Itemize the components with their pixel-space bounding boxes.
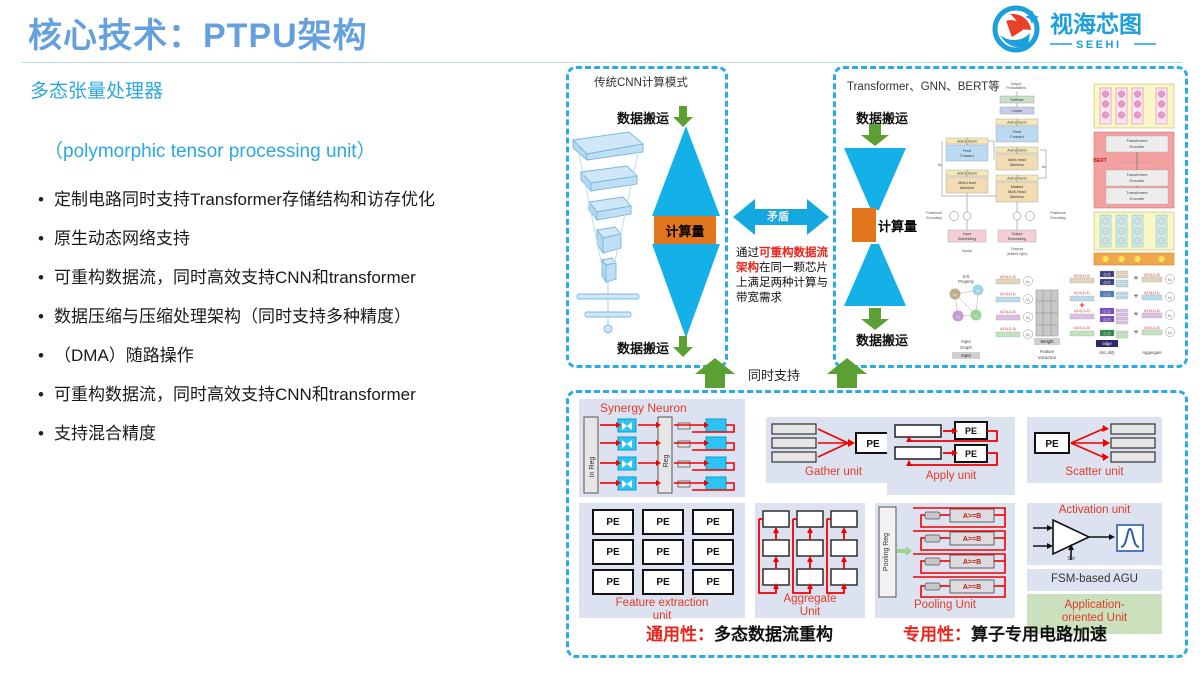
svg-text:Forward: Forward [960, 154, 973, 158]
svg-text:Probabilities: Probabilities [1006, 86, 1026, 90]
svg-text:Encoding: Encoding [927, 216, 942, 220]
cnn-panel-caption: 传统CNN计算模式 [594, 74, 688, 90]
page-title: 核心技术：PTPU架构 [28, 8, 368, 57]
svg-text:V₁: V₁ [1168, 295, 1173, 300]
svg-text:A>=B: A>=B [963, 584, 981, 591]
bullet-marker-icon: • [34, 420, 54, 448]
svg-text:Encoding: Encoding [1051, 216, 1066, 220]
footer-special-value: 算子专用电路加速 [971, 625, 1107, 644]
svg-text:A>=B: A>=B [963, 559, 981, 566]
list-item: • （DMA）随路操作 [34, 342, 544, 370]
gather-unit-diagram: PE [770, 421, 898, 467]
footer-general: 通用性：多态数据流重构 [646, 620, 833, 645]
data-move-down-arrow-icon [672, 336, 694, 358]
list-item-text: 可重构数据流，同时高效支持CNN和transformer [54, 381, 544, 409]
pe-cell: PE [642, 509, 684, 535]
svg-text:A>=B: A>=B [963, 513, 981, 520]
in-reg-label: In Reg [589, 457, 596, 478]
pe-cell: PE [592, 569, 634, 595]
slide-root: 核心技术：PTPU架构 视海芯图 SEEHI 多态张量处理器 （polymorp… [0, 0, 1200, 681]
footer-special-key: 专用性： [903, 625, 971, 644]
fsm-agu-label: FSM-based AGU [1027, 573, 1162, 586]
cnn-data-move-bottom-label: 数据搬运 [617, 338, 669, 357]
svg-text:+: + [1079, 300, 1084, 310]
svg-text:ℓ(0,0)-(1,0): ℓ(0,0)-(1,0) [1074, 274, 1089, 278]
bullet-marker-icon: • [34, 381, 54, 409]
svg-text:PE: PE [1045, 439, 1059, 450]
synergy-neuron-diagram: In Reg Reg [582, 415, 742, 495]
subheading-en: （polymorphic tensor processing unit） [44, 136, 376, 163]
aggregate-unit-label: Aggregate Unit [755, 593, 865, 619]
svg-text:Nx: Nx [938, 163, 943, 167]
svg-text:Masked: Masked [1011, 185, 1024, 189]
conflict-note-prefix: 通过 [736, 247, 759, 259]
svg-text:Positional: Positional [926, 211, 942, 215]
sel-label: Sel [1067, 556, 1074, 562]
list-item-text: 定制电路同时支持Transformer存储结构和访存优化 [54, 186, 544, 214]
pe-cell: PE [642, 539, 684, 565]
svg-text:V₀: V₀ [1168, 277, 1173, 282]
pe-cell: PE [592, 509, 634, 535]
synergy-neuron-label: Synergy Neuron [600, 401, 687, 415]
pe-cell: PE [692, 509, 734, 535]
svg-text:ℓ(1,0)-(1,1): ℓ(1,0)-(1,1) [1144, 291, 1159, 295]
svg-text:Transformer: Transformer [1126, 190, 1148, 195]
list-item-text: 原生动态网络支持 [54, 225, 544, 253]
svg-text:ℓ(2,0)-(1,2): ℓ(2,0)-(1,2) [1144, 309, 1159, 313]
svg-text:Weight: Weight [1041, 339, 1055, 344]
svg-text:V₃: V₃ [1026, 332, 1031, 337]
bullet-marker-icon: • [34, 342, 54, 370]
transformer-data-move-bottom-label: 数据搬运 [856, 330, 908, 349]
data-move-down-arrow-icon [860, 124, 890, 146]
cnn-layer-stack-icon [569, 126, 649, 338]
bullet-marker-icon: • [34, 303, 54, 331]
svg-text:(1,3): (1,3) [1104, 332, 1111, 336]
svg-text:ℓ(0,0)-(1,0): ℓ(0,0)-(1,0) [1000, 275, 1015, 279]
svg-text:V₀: V₀ [953, 292, 958, 297]
list-item: • 支持混合精度 [34, 420, 544, 448]
pooling-reg-label: Pooling Reg [883, 533, 890, 571]
svg-text:Softmax: Softmax [1010, 98, 1023, 102]
transformer-architecture-thumbnail: OutputProbabilities Softmax Linear Add &… [918, 78, 1098, 268]
svg-text:Linear: Linear [1012, 109, 1023, 113]
svg-text:(3,2): (3,2) [1104, 318, 1111, 322]
cnn-data-move-top-label: 数据搬运 [617, 108, 669, 127]
list-item-text: 可重构数据流，同时高效支持CNN和transformer [54, 264, 544, 292]
subheading-cn: 多态张量处理器 [30, 76, 163, 103]
svg-text:✳: ✳ [1133, 275, 1138, 282]
list-item: • 定制电路同时支持Transformer存储结构和访存优化 [34, 186, 544, 214]
svg-text:(1,2): (1,2) [1104, 310, 1111, 314]
activation-unit-label: Activation unit [1027, 504, 1162, 516]
svg-text:V₁: V₁ [976, 288, 981, 293]
svg-text:✳: ✳ [1133, 329, 1138, 336]
svg-text:V₁: V₁ [1026, 297, 1031, 302]
pooling-unit-label: Pooling Unit [875, 599, 1015, 612]
pe-cell: PE [642, 569, 684, 595]
svg-text:Encoder: Encoder [1130, 144, 1146, 149]
conflict-label: 矛盾 [767, 208, 789, 224]
svg-text:(2,0): (2,0) [1104, 273, 1111, 277]
list-item-text: （DMA）随路操作 [54, 342, 544, 370]
svg-text:Graph: Graph [960, 345, 972, 350]
svg-text:V₃: V₃ [1168, 330, 1173, 335]
svg-text:V₂: V₂ [1026, 315, 1031, 320]
svg-text:Attention: Attention [1010, 195, 1024, 199]
svg-text:Property: Property [958, 279, 975, 284]
svg-text:V₀: V₀ [1026, 279, 1031, 284]
apply-unit-label: Apply unit [887, 470, 1015, 483]
logo-cn-name: 视海芯图 [1050, 11, 1142, 37]
pooling-unit-diagram: Pooling Reg A>=BA>=B A>=BA>=B [877, 505, 1013, 601]
svg-text:Feed: Feed [963, 149, 971, 153]
aggregate-unit-diagram [757, 505, 863, 597]
svg-text:Multi-Head: Multi-Head [1008, 190, 1025, 194]
svg-text:PE: PE [965, 426, 977, 436]
svg-text:(3,0): (3,0) [1104, 281, 1111, 285]
title-divider [22, 62, 1182, 63]
svg-text:ℓ(1,0)-(1,1): ℓ(1,0)-(1,1) [1000, 292, 1015, 296]
svg-text:✳: ✳ [1133, 293, 1138, 300]
svg-text:ℓ(3,0)-(1,3): ℓ(3,0)-(1,3) [1074, 326, 1089, 330]
transformer-compute-label: 计算量 [878, 216, 917, 235]
bert-architecture-thumbnail: TransformerEncoder TransformerEncoder Tr… [1092, 82, 1184, 268]
svg-text:Positional: Positional [1050, 211, 1066, 215]
svg-text:A>=B: A>=B [963, 536, 981, 543]
pe-cell: PE [692, 569, 734, 595]
svg-text:edge: edge [1102, 341, 1112, 346]
scatter-unit-diagram: PE [1031, 421, 1159, 467]
logo-mark [995, 8, 1039, 50]
gnn-pipeline-thumbnail: 5-DProperty V₀ V₁ V₂ V₃ InputGraph Input… [930, 268, 1182, 360]
svg-text:Embedding: Embedding [1008, 237, 1026, 241]
svg-text:Feature: Feature [1040, 349, 1055, 354]
svg-text:Inputs: Inputs [962, 249, 972, 253]
svg-text:Encoder: Encoder [1130, 196, 1146, 201]
svg-text:Input: Input [963, 232, 971, 236]
svg-text:PE: PE [866, 439, 880, 450]
apply-unit-diagram: PE PE [891, 419, 1013, 475]
svg-text:(src,dst): (src,dst) [1099, 350, 1115, 355]
pe-cell: PE [592, 539, 634, 565]
svg-text:Nx: Nx [1042, 165, 1047, 169]
svg-text:ℓ(1,0)-(1,1): ℓ(1,0)-(1,1) [1074, 291, 1089, 295]
bullet-marker-icon: • [34, 264, 54, 292]
conflict-note: 通过可重构数据流架构在同一颗芯片上满足两种计算与带宽需求 [736, 246, 831, 306]
svg-text:Transformer: Transformer [1126, 138, 1148, 143]
cnn-compute-band: 计算量 [654, 216, 716, 244]
activation-unit-diagram: Sel [1031, 516, 1157, 562]
list-item-text: 支持混合精度 [54, 420, 544, 448]
svg-text:✳: ✳ [1133, 311, 1138, 318]
pe-cell: PE [692, 539, 734, 565]
scatter-unit-label: Scatter unit [1027, 466, 1162, 479]
footer-special: 专用性：算子专用电路加速 [903, 620, 1107, 645]
svg-text:Attention: Attention [960, 186, 974, 190]
svg-text:ℓ(2,0)-(1,2): ℓ(2,0)-(1,2) [1000, 310, 1015, 314]
footer-general-value: 多态数据流重构 [714, 625, 833, 644]
data-move-down-arrow-icon [672, 106, 694, 128]
company-logo: 视海芯图 SEEHI [988, 4, 1188, 54]
logo-en-name: SEEHI [1076, 39, 1122, 51]
footer-general-key: 通用性： [646, 625, 714, 644]
svg-text:V₂: V₂ [956, 314, 961, 319]
svg-text:Aggregate: Aggregate [1142, 350, 1162, 355]
svg-text:Input: Input [961, 339, 971, 344]
svg-text:Outputs: Outputs [1011, 247, 1024, 251]
svg-text:Forward: Forward [1010, 135, 1023, 139]
list-item: • 数据压缩与压缩处理架构（同时支持多种精度） [34, 303, 544, 331]
svg-text:Attention: Attention [1010, 163, 1024, 167]
reg-label: Reg [663, 454, 670, 467]
simultaneous-support-up-arrow-icon [694, 358, 736, 388]
simultaneous-support-up-arrow-icon [826, 358, 868, 388]
svg-text:ℓ(3,0)-(1,3): ℓ(3,0)-(1,3) [1144, 326, 1159, 330]
svg-text:Output: Output [1012, 232, 1023, 236]
svg-text:Multi-Head: Multi-Head [958, 181, 975, 185]
svg-text:PE: PE [965, 449, 977, 459]
data-move-down-arrow-icon [860, 308, 890, 330]
svg-text:Multi-Head: Multi-Head [1008, 158, 1025, 162]
svg-text:ℓ(0,0)-(1,0): ℓ(0,0)-(1,0) [1144, 273, 1159, 277]
svg-text:(shifted right): (shifted right) [1007, 252, 1028, 256]
list-item-text: 数据压缩与压缩处理架构（同时支持多种精度） [54, 303, 544, 331]
svg-text:(0,1): (0,1) [1104, 293, 1111, 297]
list-item: • 可重构数据流，同时高效支持CNN和transformer [34, 264, 544, 292]
svg-text:V₂: V₂ [1168, 313, 1173, 318]
bullet-marker-icon: • [34, 186, 54, 214]
svg-text:Transformer: Transformer [1126, 172, 1148, 177]
transformer-compute-band [852, 208, 876, 242]
bullet-list: • 定制电路同时支持Transformer存储结构和访存优化 • 原生动态网络支… [34, 186, 544, 459]
simultaneous-support-label: 同时支持 [748, 365, 800, 384]
bullet-marker-icon: • [34, 225, 54, 253]
svg-text:Encoder: Encoder [1130, 178, 1146, 183]
svg-text:BERT: BERT [1093, 158, 1107, 164]
svg-text:extraction: extraction [1038, 355, 1057, 360]
svg-text:V₃: V₃ [974, 313, 979, 318]
list-item: • 可重构数据流，同时高效支持CNN和transformer [34, 381, 544, 409]
svg-text:Embedding: Embedding [958, 237, 976, 241]
gather-unit-label: Gather unit [766, 466, 901, 479]
svg-text:Feed: Feed [1013, 130, 1021, 134]
list-item: • 原生动态网络支持 [34, 225, 544, 253]
svg-text:Input: Input [961, 353, 971, 358]
svg-text:ℓ(3,0)-(1,3): ℓ(3,0)-(1,3) [1000, 327, 1015, 331]
